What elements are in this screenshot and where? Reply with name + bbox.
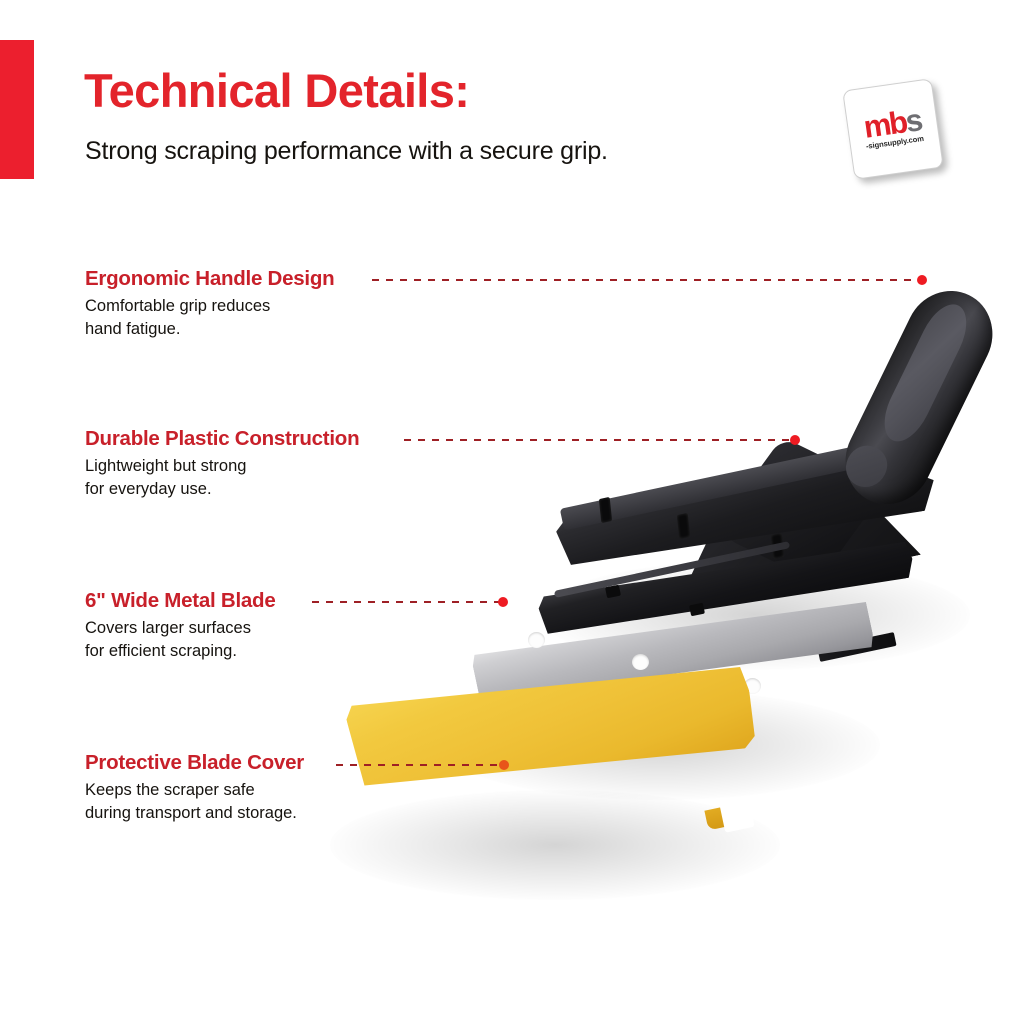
clamp-tab — [781, 623, 797, 637]
feature-ergonomic-handle-design: Ergonomic Handle Design Comfortable grip… — [85, 268, 334, 341]
feature-body: Covers larger surfaces for efficient scr… — [85, 617, 275, 664]
holder-slot — [847, 549, 860, 575]
feature-title: Durable Plastic Construction — [85, 428, 359, 451]
feature-body-line: hand fatigue. — [85, 318, 334, 341]
logo-inner: mbs -signsupply.com — [843, 79, 942, 178]
feature-title: Protective Blade Cover — [85, 752, 304, 775]
clamp-tab — [689, 603, 705, 617]
holder-shadow — [540, 560, 970, 670]
feature-body: Keeps the scraper safe during transport … — [85, 779, 304, 826]
feature-protective-blade-cover: Protective Blade Cover Keeps the scraper… — [85, 752, 304, 825]
handle-neck-flare — [653, 445, 921, 607]
feature-wide-metal-blade: 6" Wide Metal Blade Covers larger surfac… — [85, 590, 275, 663]
holder-slot — [771, 533, 784, 559]
blade-hole — [744, 678, 761, 694]
feature-body-line: for efficient scraping. — [85, 640, 275, 663]
feature-body-line: Keeps the scraper safe — [85, 779, 304, 802]
leader-dot-1 — [917, 275, 927, 285]
handle-grip-insert — [875, 297, 977, 449]
holder-slot — [677, 513, 690, 539]
blade-shadow — [440, 690, 880, 800]
scraper-handle — [830, 276, 1007, 519]
feature-title: Ergonomic Handle Design — [85, 268, 334, 291]
blade-cover-notch — [719, 797, 755, 833]
blade-hole — [632, 654, 649, 670]
infographic-page: Technical Details: Strong scraping perfo… — [0, 0, 1024, 1024]
leader-dot-3 — [498, 597, 508, 607]
clamp-tab — [605, 585, 621, 599]
clamp-bar — [536, 518, 916, 655]
feature-body: Lightweight but strong for everyday use. — [85, 455, 359, 502]
handle-thumb-pad — [839, 439, 893, 494]
blade-cover-lip — [704, 802, 751, 831]
logo-wordmark: mbs — [862, 107, 922, 141]
blade-hole — [528, 632, 545, 648]
leader-line-3 — [312, 601, 504, 603]
logo-wordmark-primary: mb — [861, 104, 908, 145]
feature-title: 6" Wide Metal Blade — [85, 590, 275, 613]
feature-body: Comfortable grip reduces hand fatigue. — [85, 295, 334, 342]
header-accent-bar — [0, 40, 34, 179]
feature-body-line: Covers larger surfaces — [85, 617, 275, 640]
holder-slot — [599, 497, 612, 523]
leader-dot-4 — [499, 760, 509, 770]
leader-line-4 — [336, 764, 506, 766]
cover-shadow — [330, 790, 780, 900]
clamp-bar-tail — [817, 632, 896, 662]
handle-neck — [713, 437, 886, 583]
leader-line-2 — [404, 439, 796, 441]
leader-line-1 — [372, 279, 924, 281]
brand-logo[interactable]: mbs -signsupply.com — [842, 80, 950, 185]
feature-body-line: Comfortable grip reduces — [85, 295, 334, 318]
feature-body-line: during transport and storage. — [85, 802, 304, 825]
blade-holder — [552, 435, 939, 586]
leader-dot-2 — [790, 435, 800, 445]
feature-body-line: Lightweight but strong — [85, 455, 359, 478]
logo-card: mbs -signsupply.com — [842, 78, 944, 180]
page-subtitle: Strong scraping performance with a secur… — [85, 137, 608, 166]
clamp-bar-ridge — [554, 541, 790, 598]
page-title: Technical Details: — [84, 66, 469, 115]
feature-durable-plastic-construction: Durable Plastic Construction Lightweight… — [85, 428, 359, 501]
blade-cover — [343, 622, 760, 828]
blade-holder-top-edge — [560, 432, 928, 531]
metal-blade — [470, 571, 876, 730]
feature-body-line: for everyday use. — [85, 478, 359, 501]
